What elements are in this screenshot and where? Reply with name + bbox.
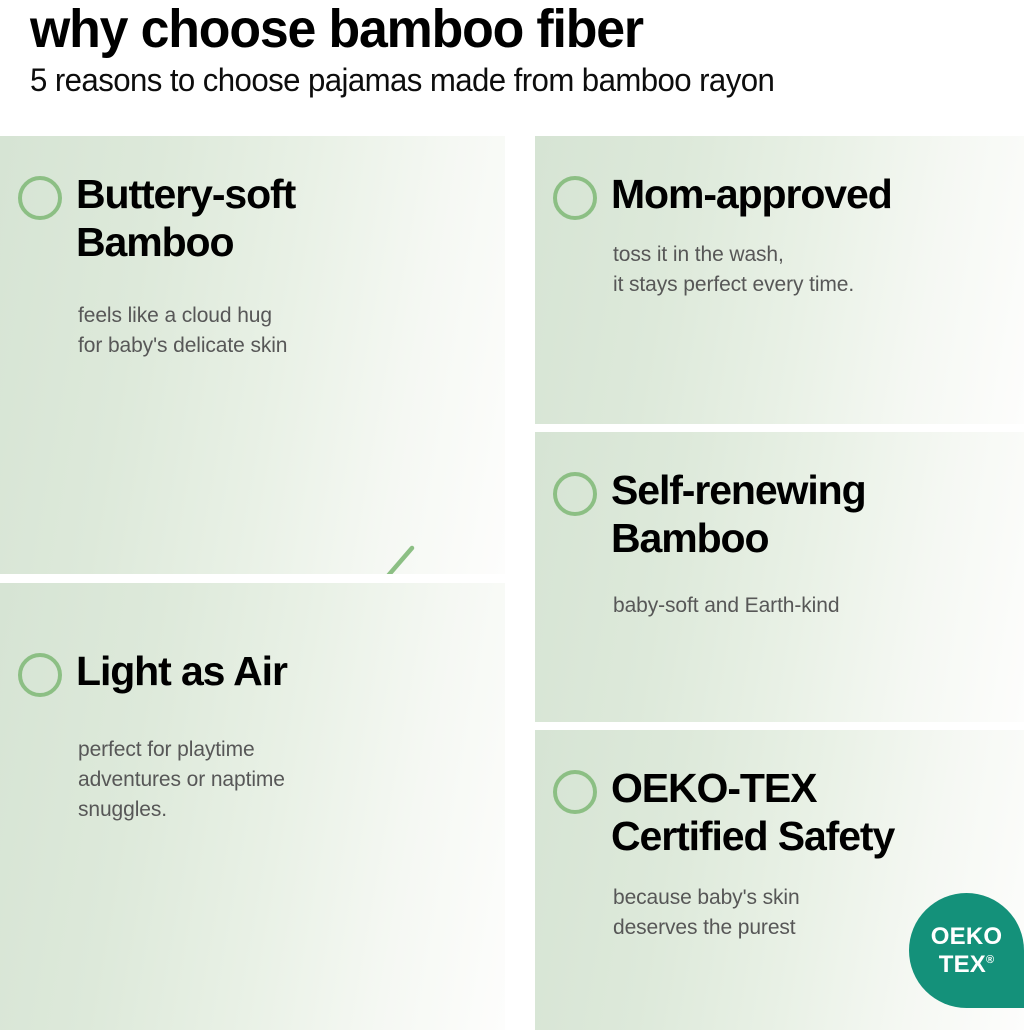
page-header: why choose bamboo fiber 5 reasons to cho… — [0, 0, 1024, 136]
card-header: Buttery-soft Bamboo — [18, 170, 505, 267]
card-title: Mom-approved — [611, 170, 892, 218]
card-header: Light as Air — [18, 647, 505, 697]
card-buttery-soft-bamboo: Buttery-soft Bamboo feels like a cloud h… — [0, 136, 505, 574]
circle-bullet-icon — [553, 176, 597, 220]
card-title: OEKO-TEX Certified Safety — [611, 764, 894, 861]
card-title: Buttery-soft Bamboo — [76, 170, 295, 267]
circle-bullet-icon — [18, 176, 62, 220]
oeko-badge-tex-text: TEX — [939, 951, 986, 978]
card-body-text: feels like a cloud hug for baby's delica… — [78, 301, 505, 361]
oeko-badge-line1: OEKO — [931, 925, 1002, 949]
registered-trademark-icon: ® — [986, 954, 994, 966]
hand-touching-fabric-icon — [338, 540, 498, 574]
card-title: Light as Air — [76, 647, 287, 695]
card-title: Self-renewing Bamboo — [611, 466, 866, 563]
card-body-text: toss it in the wash, it stays perfect ev… — [613, 240, 1024, 300]
card-body-text: perfect for playtime adventures or napti… — [78, 735, 505, 824]
card-light-as-air: Light as Air perfect for playtime advent… — [0, 583, 505, 1030]
oeko-tex-badge: OEKO TEX® — [909, 893, 1024, 1008]
infographic-page: why choose bamboo fiber 5 reasons to cho… — [0, 0, 1024, 1030]
page-title: why choose bamboo fiber — [30, 2, 984, 56]
page-subtitle: 5 reasons to choose pajamas made from ba… — [30, 64, 999, 98]
circle-bullet-icon — [18, 653, 62, 697]
card-body-text: baby-soft and Earth-kind — [613, 591, 1024, 621]
card-self-renewing-bamboo: Self-renewing Bamboo baby-soft and Earth… — [535, 432, 1024, 722]
card-header: Self-renewing Bamboo — [553, 466, 1024, 563]
oeko-badge-line2: TEX® — [939, 953, 995, 977]
card-header: Mom-approved — [553, 170, 1024, 220]
circle-bullet-icon — [553, 770, 597, 814]
card-mom-approved: Mom-approved toss it in the wash, it sta… — [535, 136, 1024, 424]
circle-bullet-icon — [553, 472, 597, 516]
card-header: OEKO-TEX Certified Safety — [553, 764, 1024, 861]
